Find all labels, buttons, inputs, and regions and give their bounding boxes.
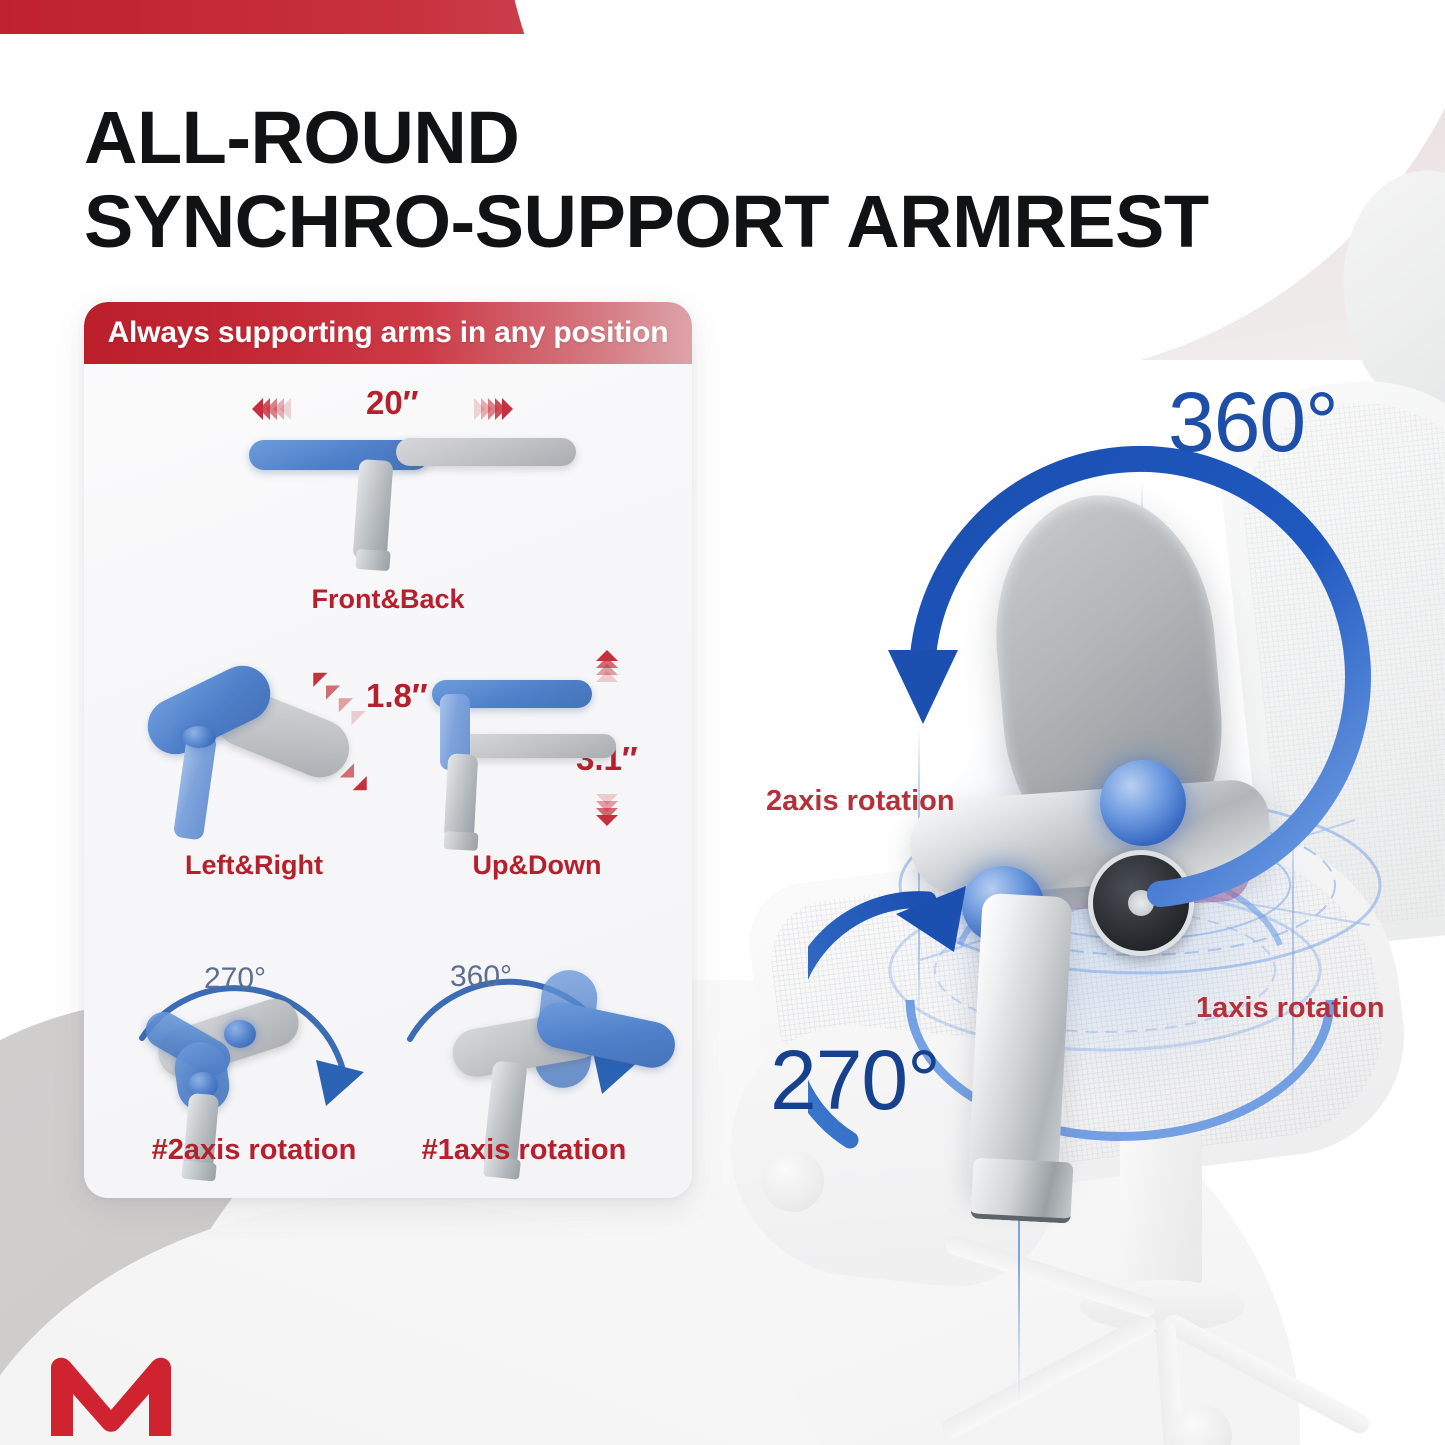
left-right-dimension: 1.8″ xyxy=(366,677,428,715)
1axis-degrees: 360° xyxy=(450,960,512,994)
armrest-post xyxy=(967,893,1073,1197)
infographic-stage: ALL-ROUND SYNCHRO-SUPPORT ARMREST Always… xyxy=(0,0,1445,1445)
armrest-joint-upper xyxy=(1100,760,1186,846)
page-title: ALL-ROUND SYNCHRO-SUPPORT ARMREST xyxy=(84,96,1264,263)
axis-guide-line xyxy=(1292,810,1294,1110)
2axis-degrees: 270° xyxy=(204,962,266,996)
armrest-pad-grey xyxy=(396,438,576,466)
feature-card: Always supporting arms in any position 2… xyxy=(84,302,692,1198)
armrest-post-foot xyxy=(355,549,390,571)
armrest-joint xyxy=(224,1020,256,1048)
chevrons-left-icon xyxy=(252,398,287,420)
hero-label-2axis-rotation: 2axis rotation xyxy=(766,785,955,818)
armrest-post-cap xyxy=(970,1157,1073,1223)
armrest-post xyxy=(353,459,394,561)
hero-degrees-270: 270° xyxy=(770,1032,940,1129)
armrest-pad-grey xyxy=(456,734,616,758)
front-back-label: Front&Back xyxy=(84,584,692,615)
up-down-label: Up&Down xyxy=(402,850,672,881)
chevrons-up-icon xyxy=(596,650,618,678)
2axis-rotation-label: #2axis rotation xyxy=(104,1134,404,1167)
chevrons-down-icon xyxy=(596,794,618,822)
1axis-rotation-label: #1axis rotation xyxy=(374,1134,674,1167)
title-line-1: ALL-ROUND xyxy=(84,96,1264,180)
left-right-label: Left&Right xyxy=(124,850,384,881)
m-logo xyxy=(45,1352,177,1438)
title-line-2: SYNCHRO-SUPPORT ARMREST xyxy=(84,180,1264,264)
hero-degrees-360: 360° xyxy=(1168,374,1338,471)
armrest-gear-icon xyxy=(1088,850,1194,956)
hero-label-1axis-rotation: 1axis rotation xyxy=(1196,992,1385,1025)
front-back-dimension: 20″ xyxy=(366,384,419,422)
armrest-post-lower xyxy=(444,753,478,840)
armrest-post-foot xyxy=(444,831,479,851)
card-header: Always supporting arms in any position xyxy=(84,302,692,364)
chevrons-right-icon xyxy=(474,398,509,420)
armrest-joint xyxy=(182,726,216,748)
card-header-label: Always supporting arms in any position xyxy=(108,316,669,350)
